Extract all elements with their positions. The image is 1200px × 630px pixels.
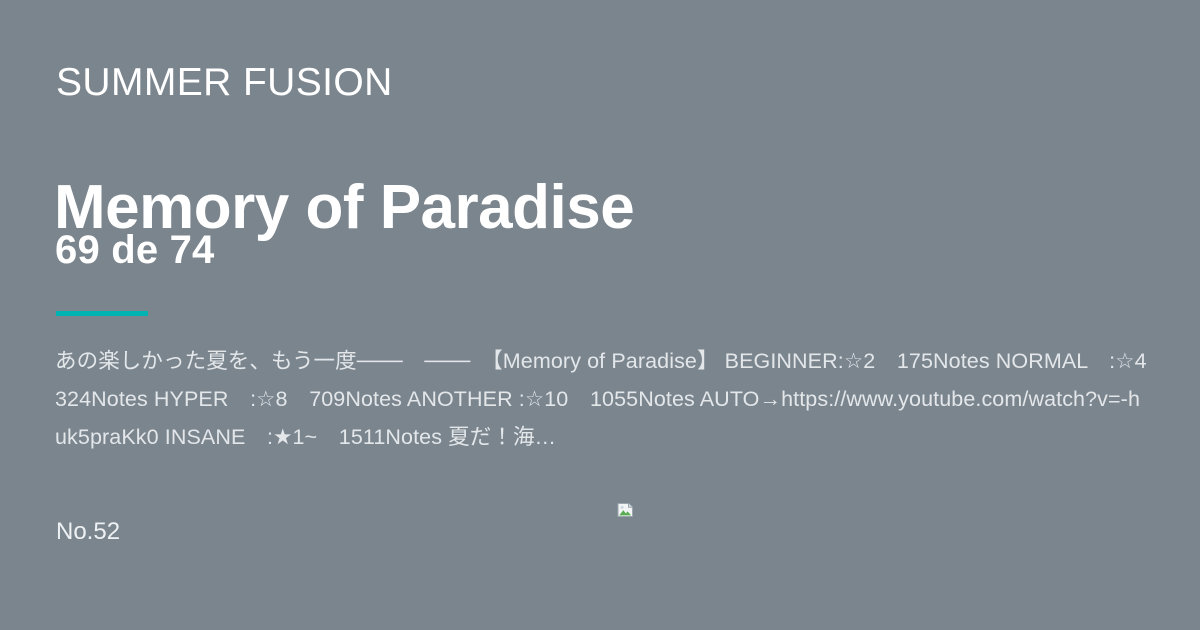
progress-count-subtitle: 69 de 74 (55, 228, 215, 272)
description-text: あの楽しかった夏を、もう一度─── ─── 【Memory of Paradis… (55, 342, 1147, 456)
series-eyebrow-label: SUMMER FUSION (56, 62, 393, 105)
broken-image-icon (617, 502, 634, 518)
footer-index-label: No.52 (56, 518, 120, 547)
link-preview-card: SUMMER FUSION Memory of Paradise 69 de 7… (0, 0, 1200, 630)
accent-divider (56, 311, 148, 316)
